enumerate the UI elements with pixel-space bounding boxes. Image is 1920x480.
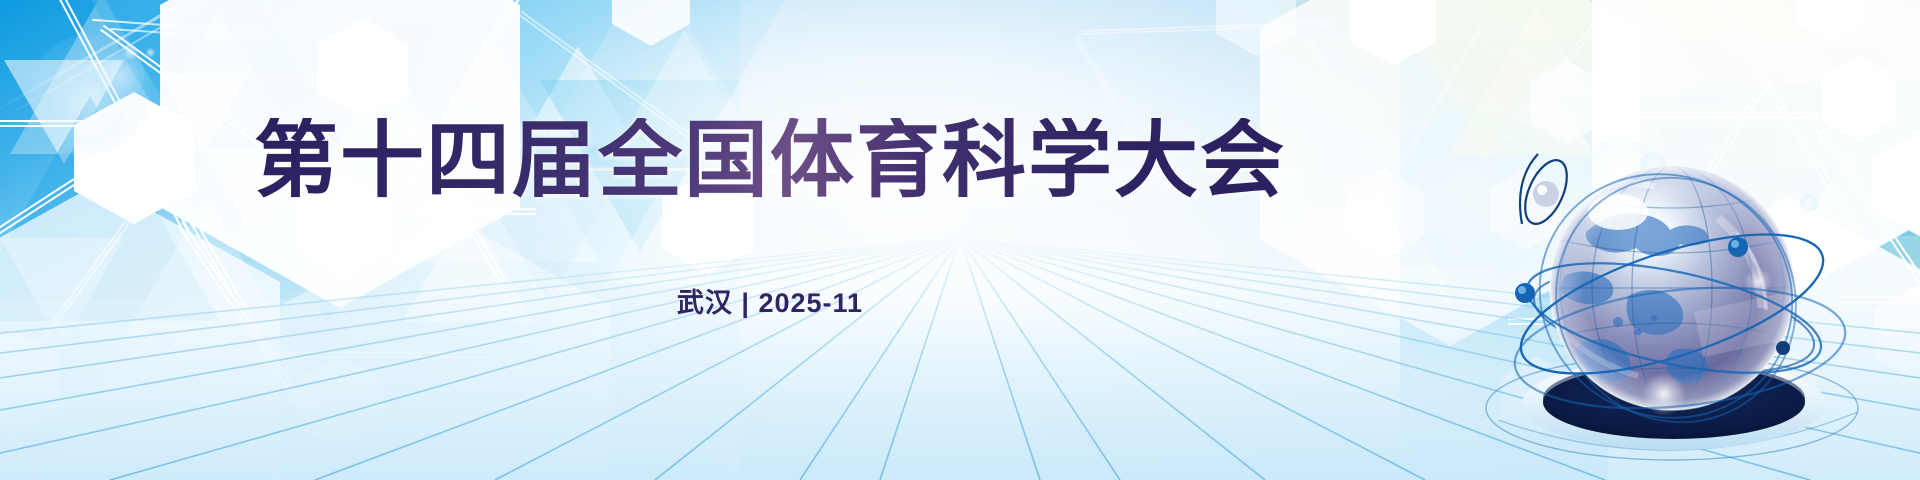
subtitle-container: 武汉 | 2025-11	[0, 281, 1540, 320]
banner-subtitle: 武汉 | 2025-11	[677, 281, 863, 320]
banner-title: 第十四届全国体育科学大会	[254, 118, 1286, 202]
title-container: 第十四届全国体育科学大会	[0, 118, 1540, 202]
banner-content: 第十四届全国体育科学大会 武汉 | 2025-11	[0, 0, 1920, 480]
conference-banner: 第十四届全国体育科学大会 武汉 | 2025-11	[0, 0, 1920, 480]
